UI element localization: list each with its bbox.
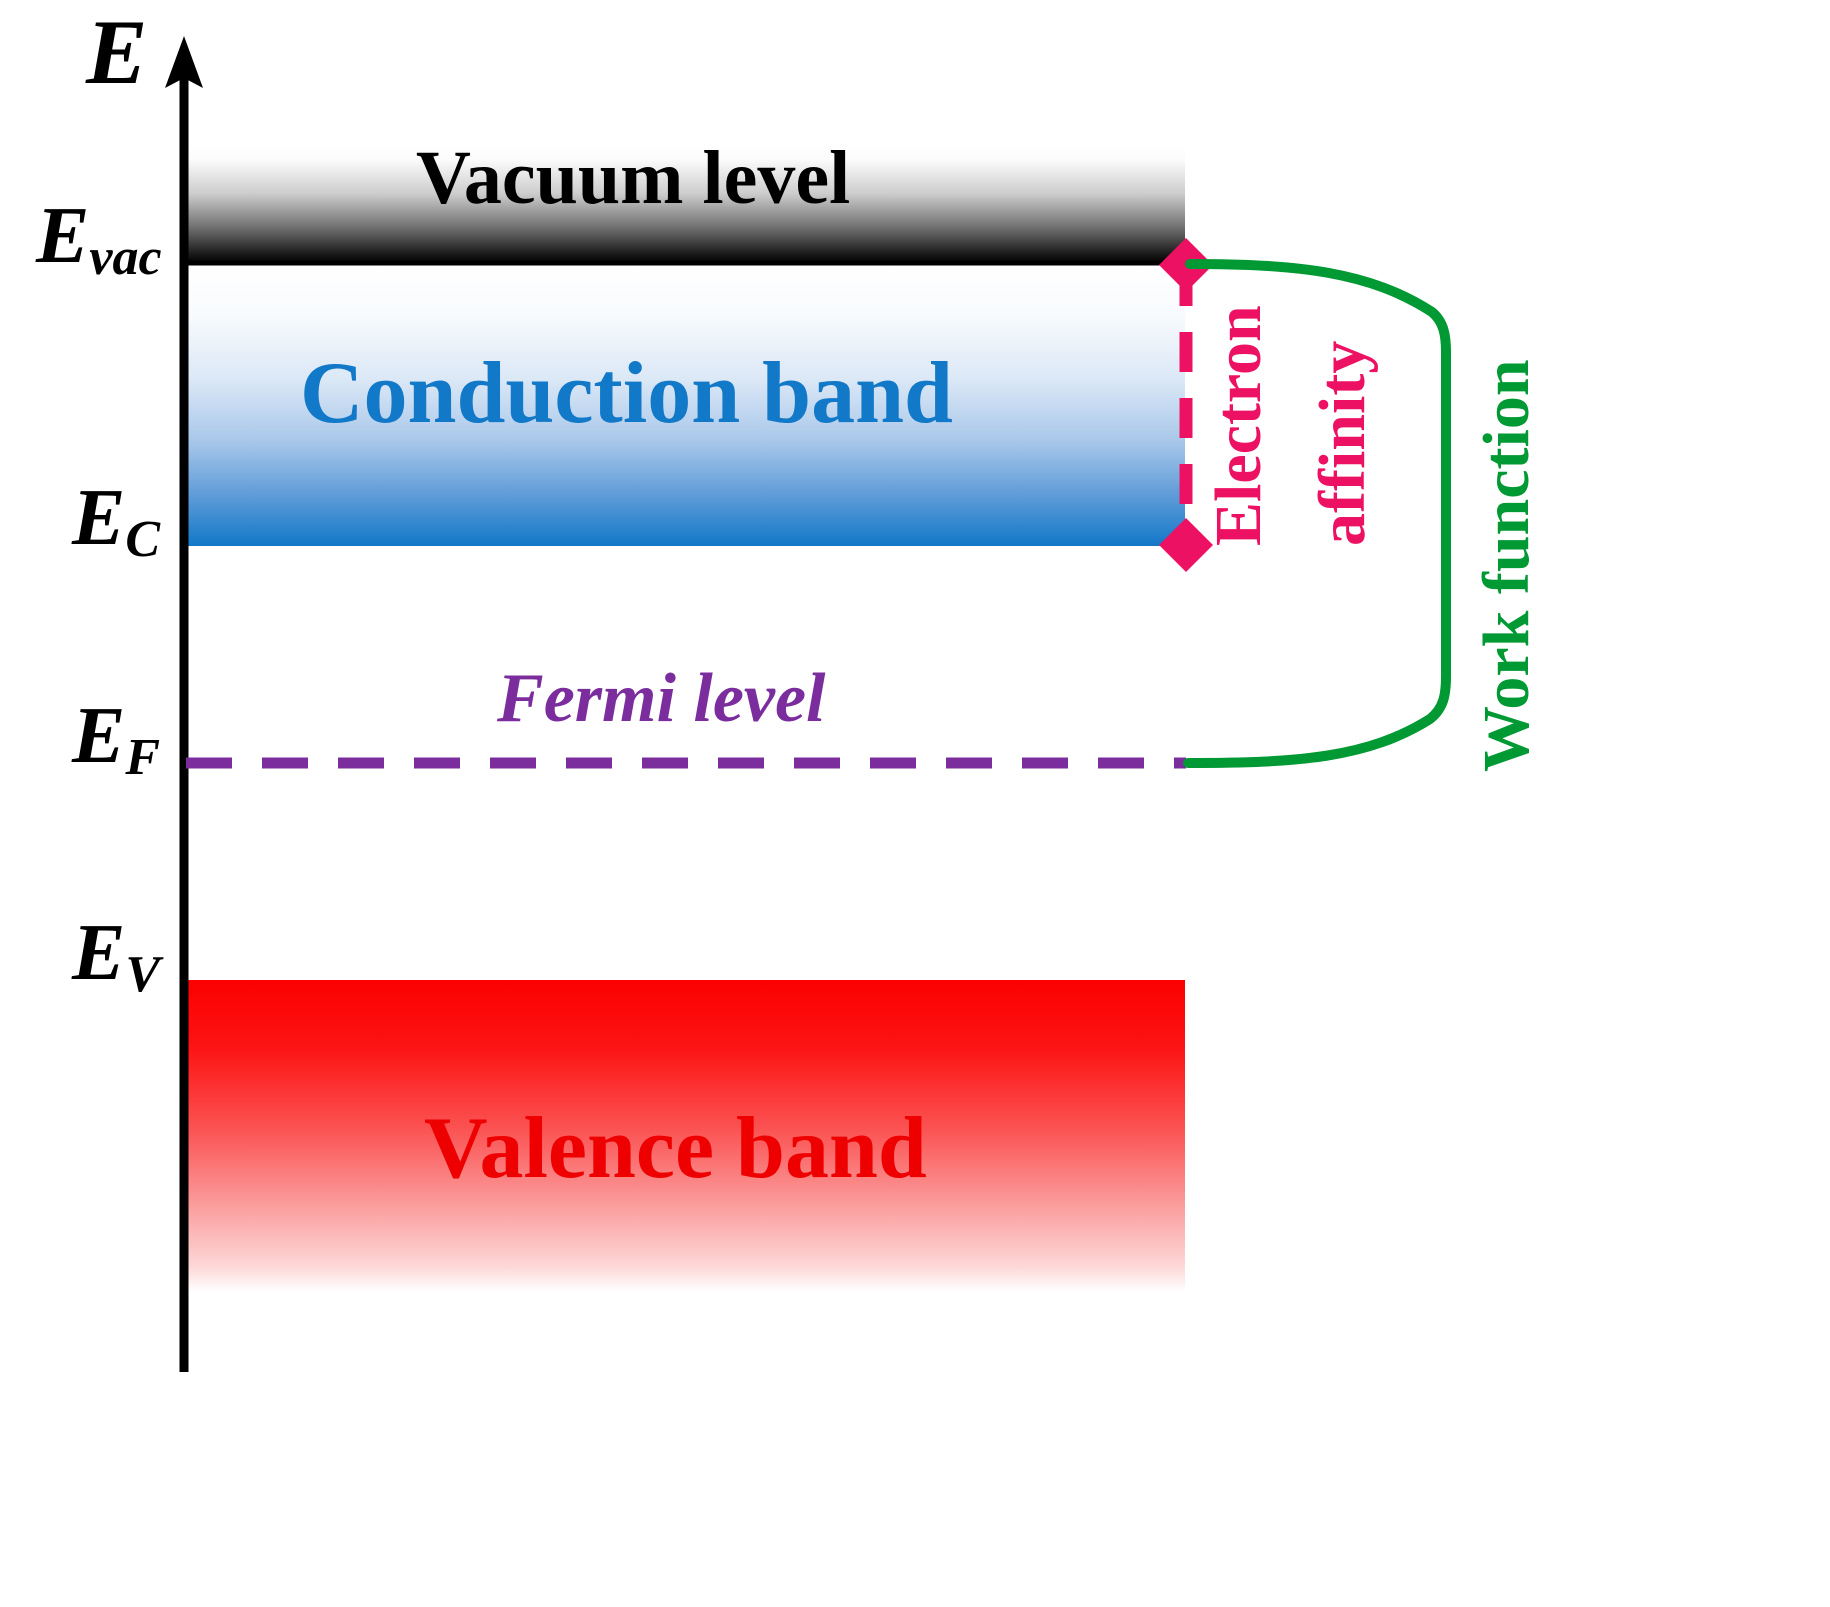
work-function-label: Work function [1474,359,1540,772]
fermi-level-caption: Fermi level [497,664,826,734]
valence-band-caption: Valence band [424,1105,927,1193]
axis-arrowhead [165,36,203,88]
level-label-ec-symbol: E [72,474,125,562]
level-label-ev: EV [72,913,160,993]
level-label-ef-symbol: E [72,692,125,780]
level-label-evac: Evac [36,196,162,276]
level-label-ev-subscript: V [125,946,160,1003]
level-label-evac-subscript: vac [89,229,161,286]
band-diagram-figure: E Evac EC EF EV Vacuum level Conduction … [0,0,1830,1607]
level-label-ev-symbol: E [72,909,125,997]
conduction-band-caption: Conduction band [300,350,953,438]
level-label-evac-symbol: E [36,192,89,280]
level-label-ec-subscript: C [125,511,160,568]
level-label-ec: EC [72,478,160,558]
electron-affinity-label-line2: affinity [1310,341,1376,546]
electron-affinity-label-line1: Electron [1206,305,1272,546]
level-label-ef: EF [72,696,160,776]
energy-axis-label: E [86,6,147,98]
vacuum-level-caption: Vacuum level [416,140,850,216]
level-label-ef-subscript: F [125,729,160,786]
